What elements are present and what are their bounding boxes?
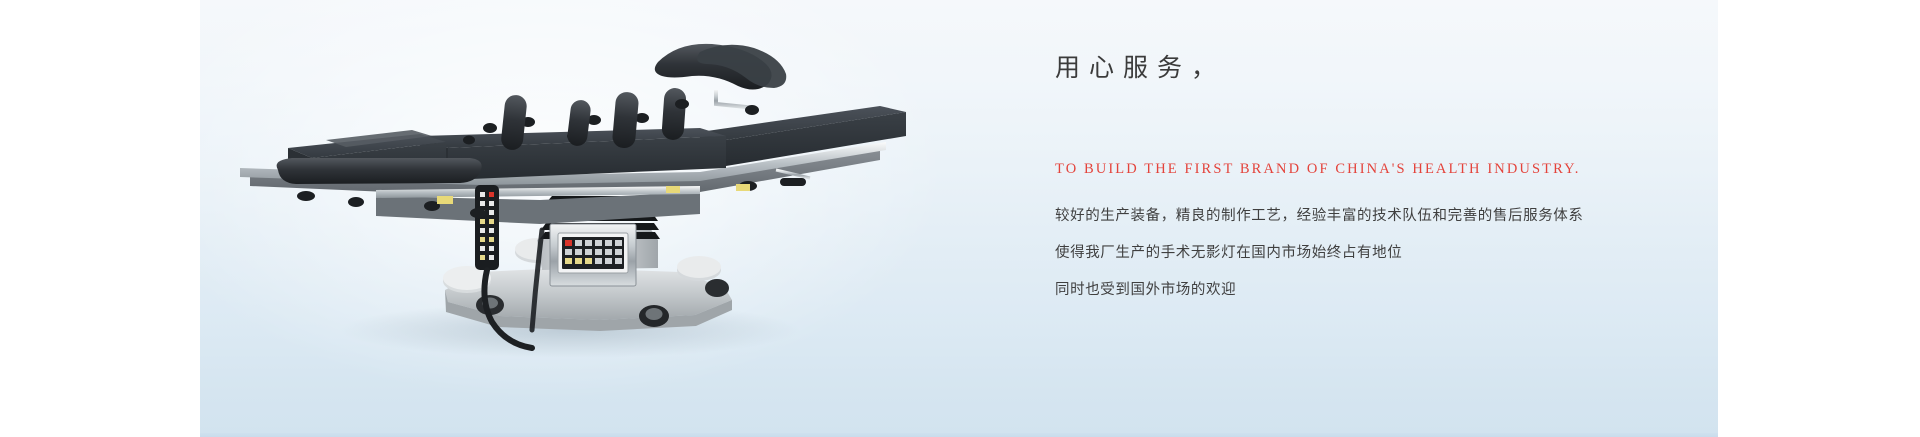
banner-tagline: TO BUILD THE FIRST BRAND OF CHINA'S HEAL… — [1055, 160, 1581, 178]
banner-stage: 用心服务， TO BUILD THE FIRST BRAND OF CHINA'… — [0, 0, 1920, 437]
banner-description: 较好的生产装备，精良的制作工艺，经验丰富的技术队伍和完善的售后服务体系 使得我厂… — [1055, 198, 1695, 309]
banner-headline: 用心服务， — [1055, 52, 1225, 84]
description-line: 使得我厂生产的手术无影灯在国内市场始终占有地位 — [1055, 235, 1695, 272]
description-line: 同时也受到国外市场的欢迎 — [1055, 272, 1695, 309]
description-line: 较好的生产装备，精良的制作工艺，经验丰富的技术队伍和完善的售后服务体系 — [1055, 198, 1695, 235]
operating-table-photo — [200, 0, 940, 437]
banner-bottom-edge — [200, 433, 1718, 437]
promo-banner: 用心服务， TO BUILD THE FIRST BRAND OF CHINA'… — [200, 0, 1718, 437]
banner-copy: 用心服务， TO BUILD THE FIRST BRAND OF CHINA'… — [1055, 0, 1695, 437]
